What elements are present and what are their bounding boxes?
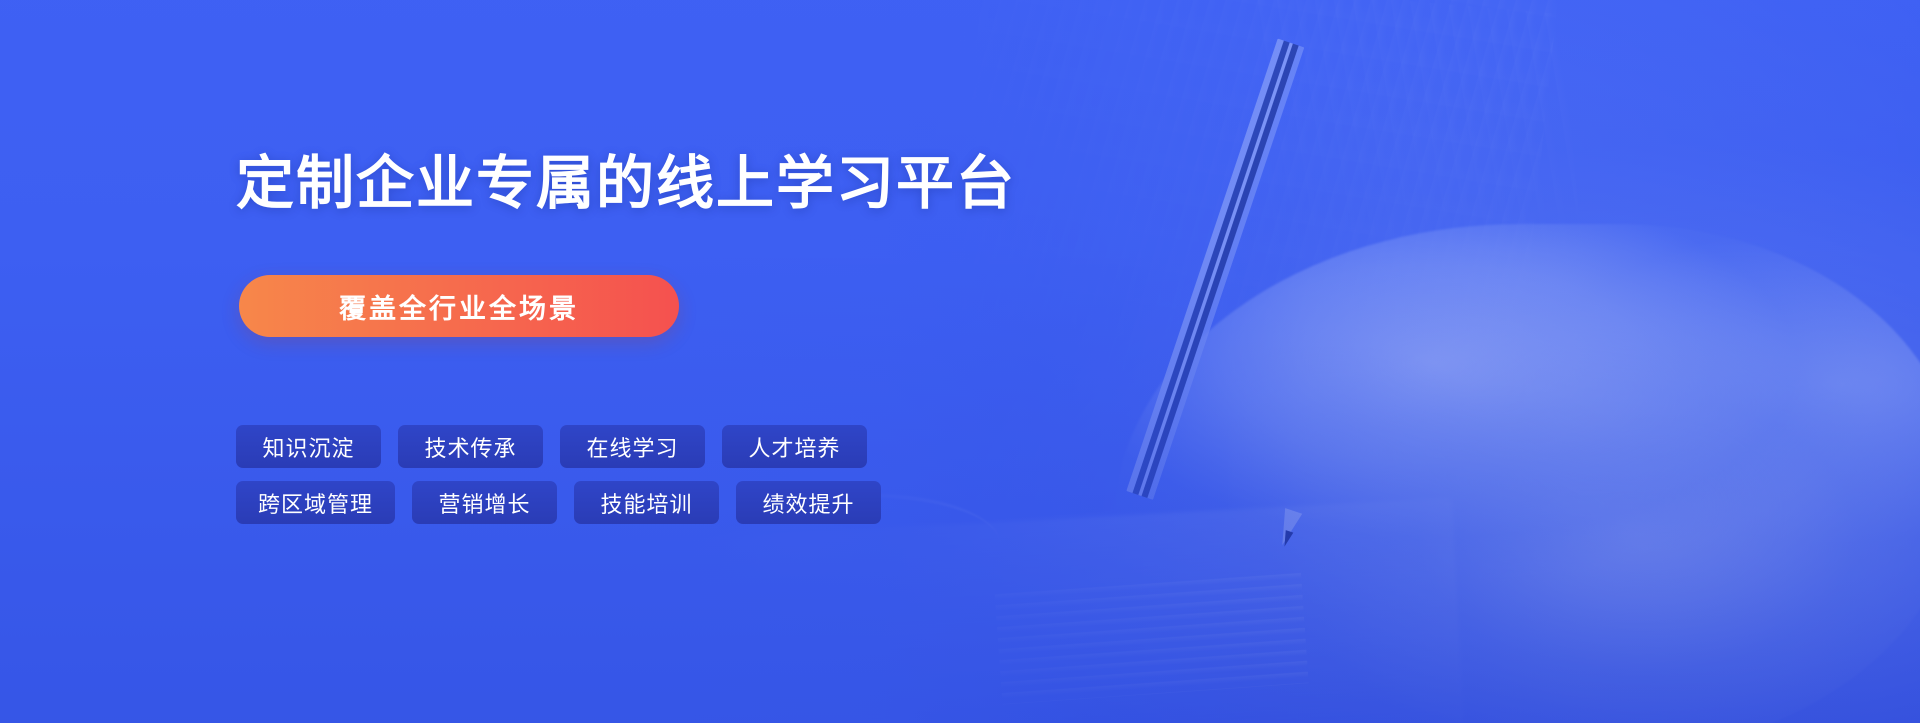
tag-item[interactable]: 人才培养 bbox=[722, 425, 867, 468]
banner-headline: 定制企业专属的线上学习平台 bbox=[236, 155, 1016, 213]
tag-item[interactable]: 绩效提升 bbox=[736, 481, 881, 524]
coverage-badge[interactable]: 覆盖全行业全场景 bbox=[239, 275, 679, 337]
tag-row-1: 知识沉淀 技术传承 在线学习 人才培养 bbox=[236, 425, 881, 468]
tag-item[interactable]: 在线学习 bbox=[560, 425, 705, 468]
banner-content: 定制企业专属的线上学习平台 覆盖全行业全场景 知识沉淀 技术传承 在线学习 人才… bbox=[236, 0, 1236, 723]
hero-banner: 定制企业专属的线上学习平台 覆盖全行业全场景 知识沉淀 技术传承 在线学习 人才… bbox=[0, 0, 1920, 723]
tag-item[interactable]: 技能培训 bbox=[574, 481, 719, 524]
tag-row-2: 跨区域管理 营销增长 技能培训 绩效提升 bbox=[236, 481, 881, 524]
tag-list: 知识沉淀 技术传承 在线学习 人才培养 跨区域管理 营销增长 技能培训 绩效提升 bbox=[236, 425, 881, 524]
tag-item[interactable]: 技术传承 bbox=[398, 425, 543, 468]
tag-item[interactable]: 跨区域管理 bbox=[236, 481, 395, 524]
tag-item[interactable]: 营销增长 bbox=[412, 481, 557, 524]
tag-item[interactable]: 知识沉淀 bbox=[236, 425, 381, 468]
